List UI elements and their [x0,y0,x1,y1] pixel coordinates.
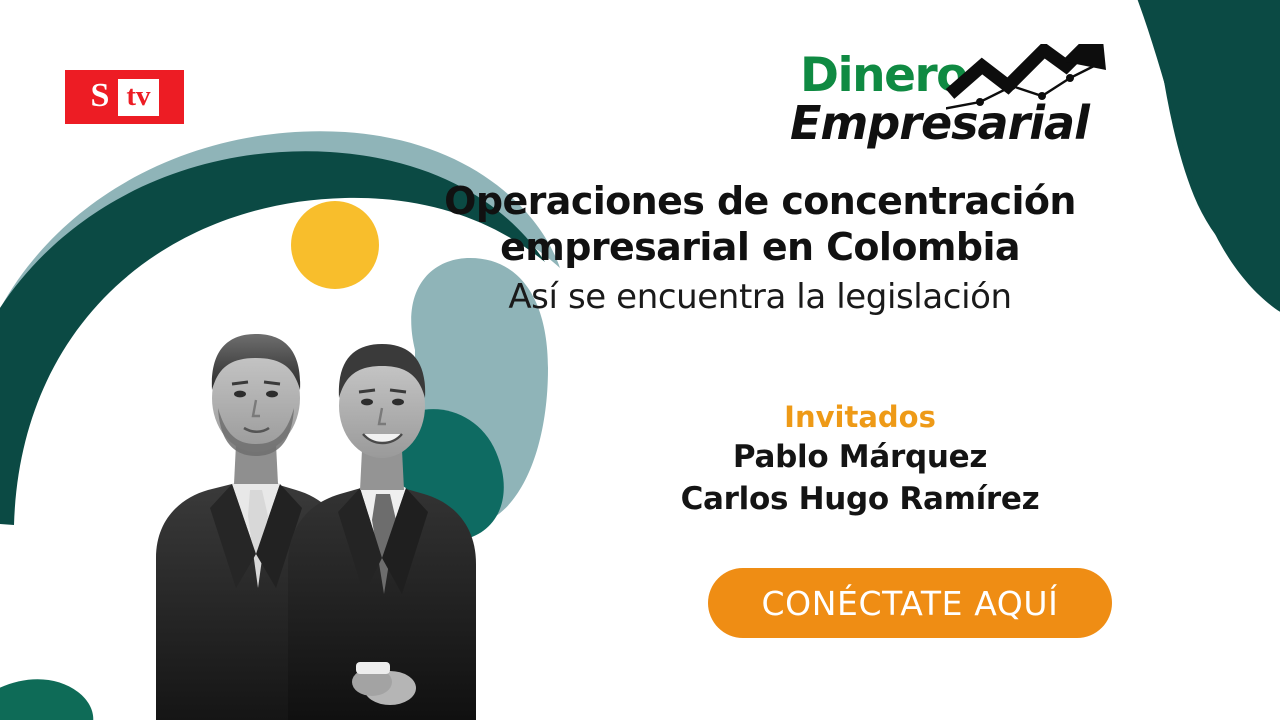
channel-logo-letter: S [90,79,109,115]
page-title-line-2: empresarial en Colombia [430,224,1090,270]
page-subtitle: Así se encuentra la legislación [430,274,1090,320]
guests-photo [60,258,500,720]
guest-name-2: Carlos Hugo Ramírez [620,478,1100,520]
headline-block: Operaciones de concentración empresarial… [430,178,1090,320]
program-logo: Dinero Empresarial [800,52,1120,162]
guest-name-1: Pablo Márquez [620,436,1100,478]
program-logo-word-dinero: Dinero [800,52,967,99]
guest-figure-right [288,344,476,720]
growth-arrow-icon [946,44,1126,124]
guests-label: Invitados [620,398,1100,436]
guests-block: Invitados Pablo Márquez Carlos Hugo Ramí… [620,398,1100,520]
page-title-line-1: Operaciones de concentración [430,178,1090,224]
dark-teal-corner-tail-shape [1130,0,1280,322]
channel-logo-tv-badge: tv [118,79,158,116]
promo-banner: S tv Dinero Empresarial Operaciones de c… [0,0,1280,720]
channel-logo[interactable]: S tv [65,70,184,124]
connect-here-button-label: CONÉCTATE AQUÍ [762,584,1059,623]
connect-here-button[interactable]: CONÉCTATE AQUÍ [708,568,1112,638]
